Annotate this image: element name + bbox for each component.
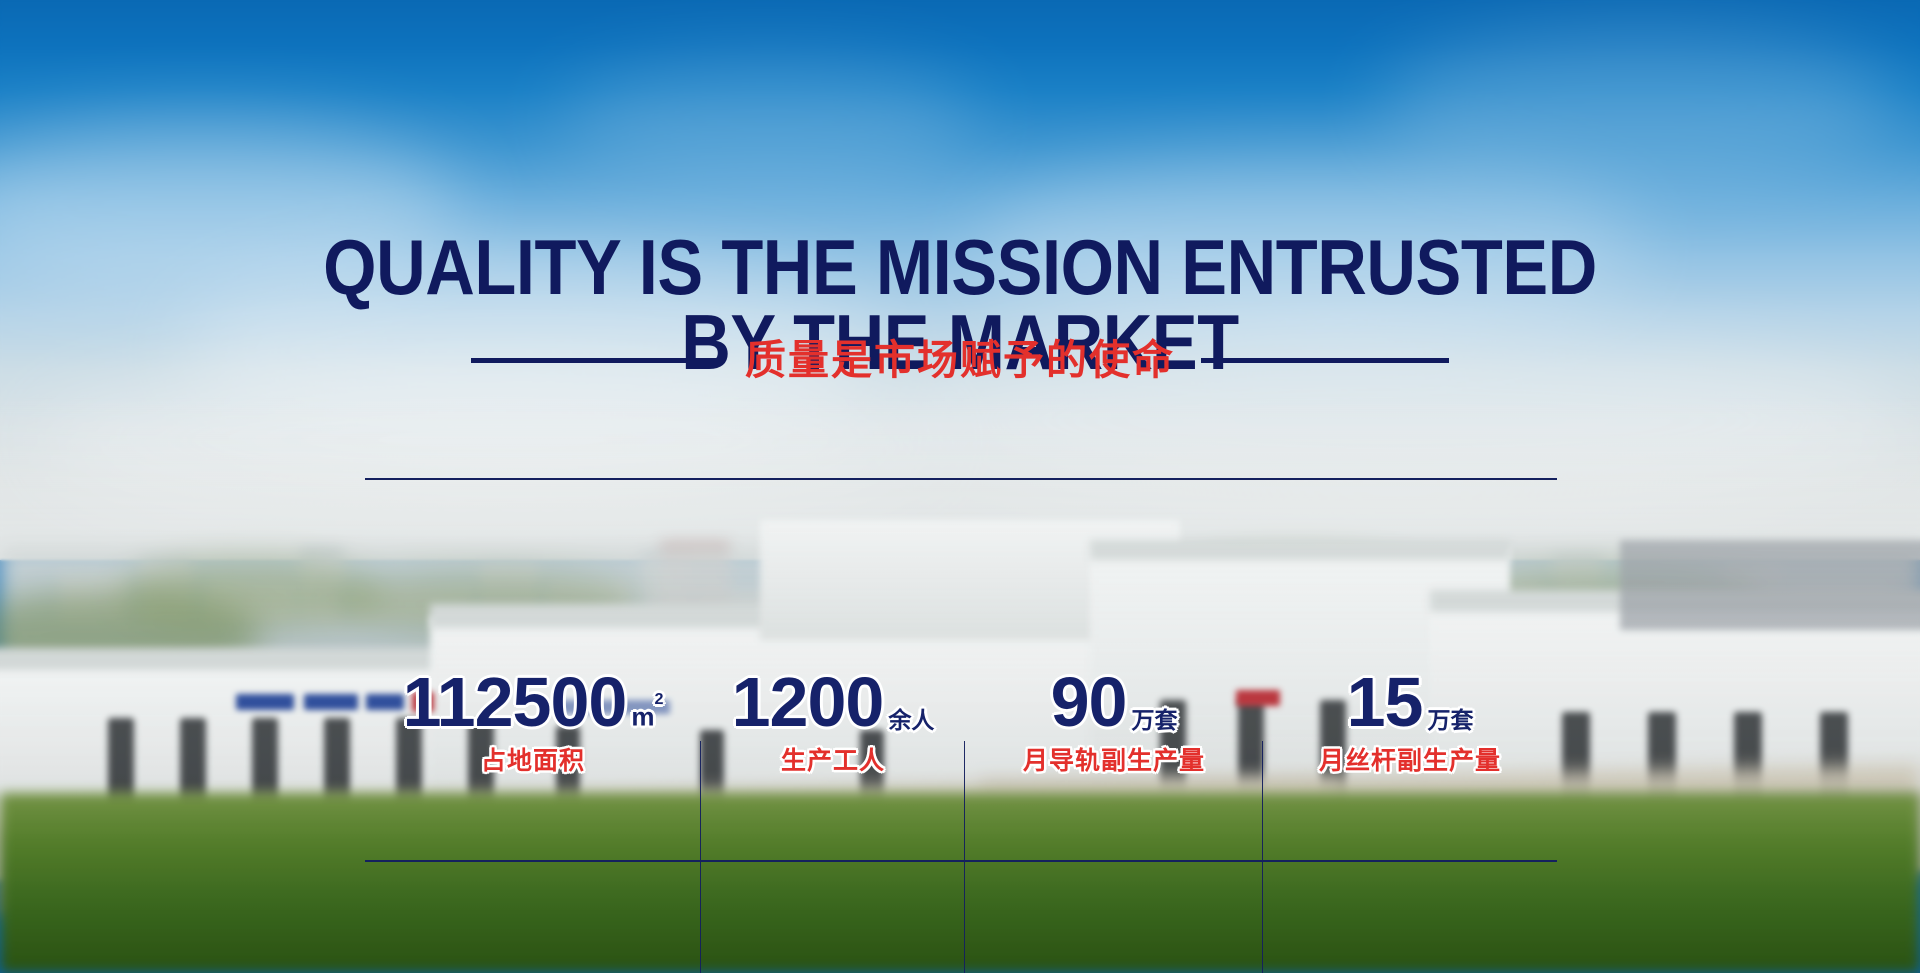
- stat-number: 90: [1051, 667, 1127, 737]
- banner-content: QUALITY IS THE MISSION ENTRUSTED BY THE …: [0, 0, 1920, 973]
- stat-number: 112500: [403, 667, 627, 737]
- stat-label: 月导轨副生产量: [965, 749, 1263, 774]
- stat-value: 15 万套: [1263, 667, 1557, 737]
- stat-number: 1200: [732, 667, 884, 737]
- stat-value: 90 万套: [965, 667, 1263, 737]
- stat-item-workers: 1200 余人 生产工人: [701, 667, 965, 862]
- hero-banner: QUALITY IS THE MISSION ENTRUSTED BY THE …: [0, 0, 1920, 973]
- stat-item-screw-output: 15 万套 月丝杆副生产量: [1263, 667, 1557, 862]
- stat-unit: 万套: [1427, 709, 1473, 732]
- stat-label: 生产工人: [701, 749, 965, 774]
- subtitle-rule-right: [1201, 358, 1449, 363]
- stat-unit: 万套: [1131, 709, 1177, 732]
- subtitle-rule-left: [471, 358, 719, 363]
- stat-number: 15: [1347, 667, 1423, 737]
- stat-label: 占地面积: [365, 749, 701, 774]
- stat-item-guide-rail-output: 90 万套 月导轨副生产量: [965, 667, 1263, 862]
- stat-unit: m2: [631, 703, 663, 730]
- stat-value: 1200 余人: [701, 667, 965, 737]
- stat-label: 月丝杆副生产量: [1263, 749, 1557, 774]
- stat-value: 112500 m2: [365, 667, 701, 737]
- stat-unit-superscript: 2: [654, 690, 663, 708]
- stat-unit: 余人: [888, 709, 934, 732]
- subtitle-row: 质量是市场赋予的使命: [0, 340, 1920, 381]
- statistics-panel: 112500 m2 占地面积 1200 余人 生产工人: [365, 478, 1557, 862]
- banner-subtitle-chinese: 质量是市场赋予的使命: [745, 340, 1175, 381]
- statistics-row: 112500 m2 占地面积 1200 余人 生产工人: [365, 478, 1557, 862]
- stat-unit-base: m: [631, 702, 654, 732]
- stat-item-site-area: 112500 m2 占地面积: [365, 667, 701, 862]
